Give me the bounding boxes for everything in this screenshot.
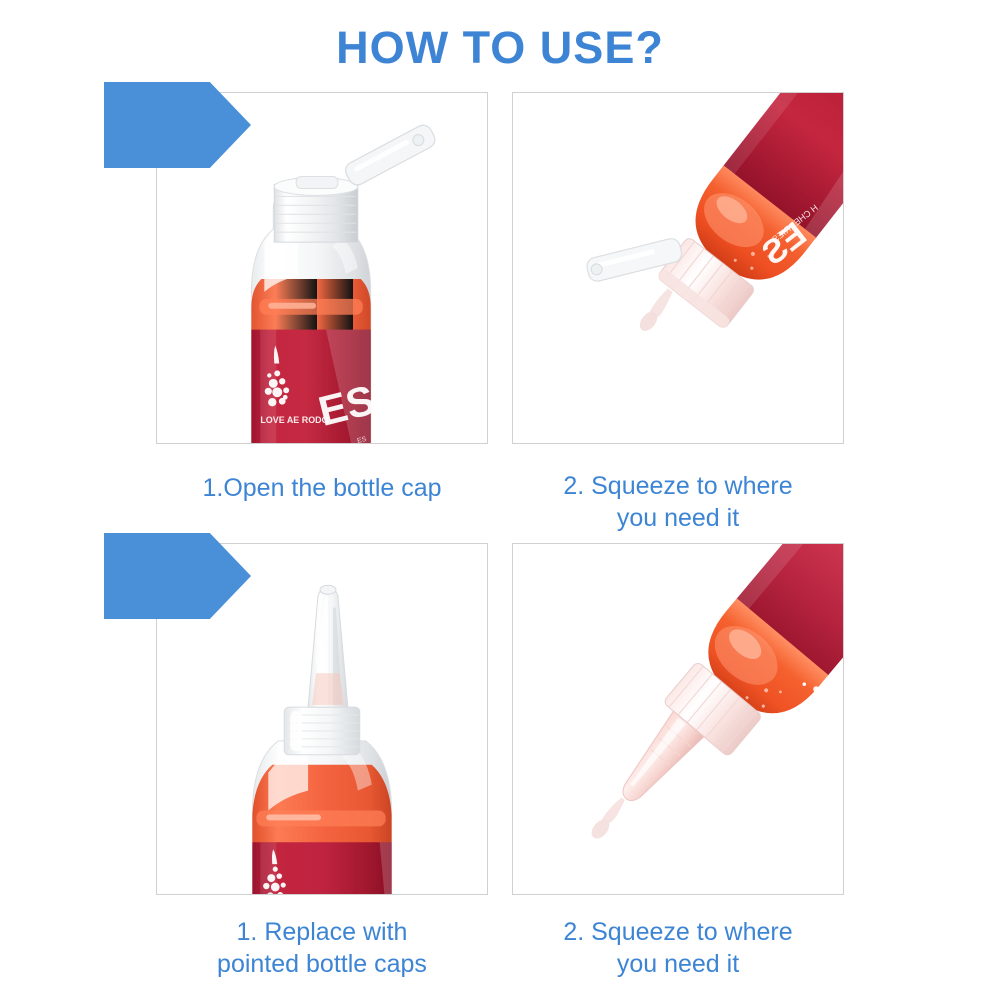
bottle-illustration-tilted-fliptop-dripping: ES H CHERRIES [513,93,843,443]
step-image-panel-2: ES H CHERRIES [512,92,844,444]
step-caption-4: 2. Squeeze to where you need it [488,916,868,980]
bottle-illustration-tilted-pointed-cap-dripping [513,544,843,894]
step-caption-1: 1.Open the bottle cap [132,472,512,504]
step-image-panel-4 [512,543,844,895]
page-title: HOW TO USE? [0,22,1000,74]
step-caption-3: 1. Replace with pointed bottle caps [132,916,512,980]
step-caption-2: 2. Squeeze to where you need it [488,470,868,534]
svg-text:LOVE AE RODO: LOVE AE RODO [260,415,328,425]
